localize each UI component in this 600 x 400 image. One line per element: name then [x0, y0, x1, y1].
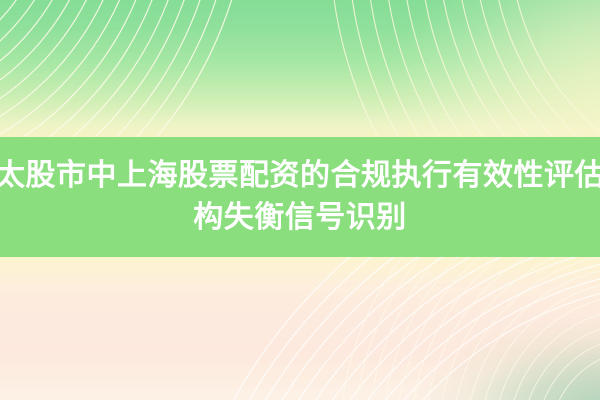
page-title-line-2: 构失衡信号识别: [193, 197, 407, 239]
background-cream-glow-right: [300, 0, 600, 150]
title-banner: 亚太股市中上海股票配资的合规执行有效性评估结 构失衡信号识别: [0, 0, 600, 400]
background-teal-glow-bottom-right: [340, 290, 600, 400]
page-title: 亚太股市中上海股票配资的合规执行有效性评估结 构失衡信号识别: [0, 137, 600, 257]
page-title-line-1: 亚太股市中上海股票配资的合规执行有效性评估结: [0, 155, 600, 197]
